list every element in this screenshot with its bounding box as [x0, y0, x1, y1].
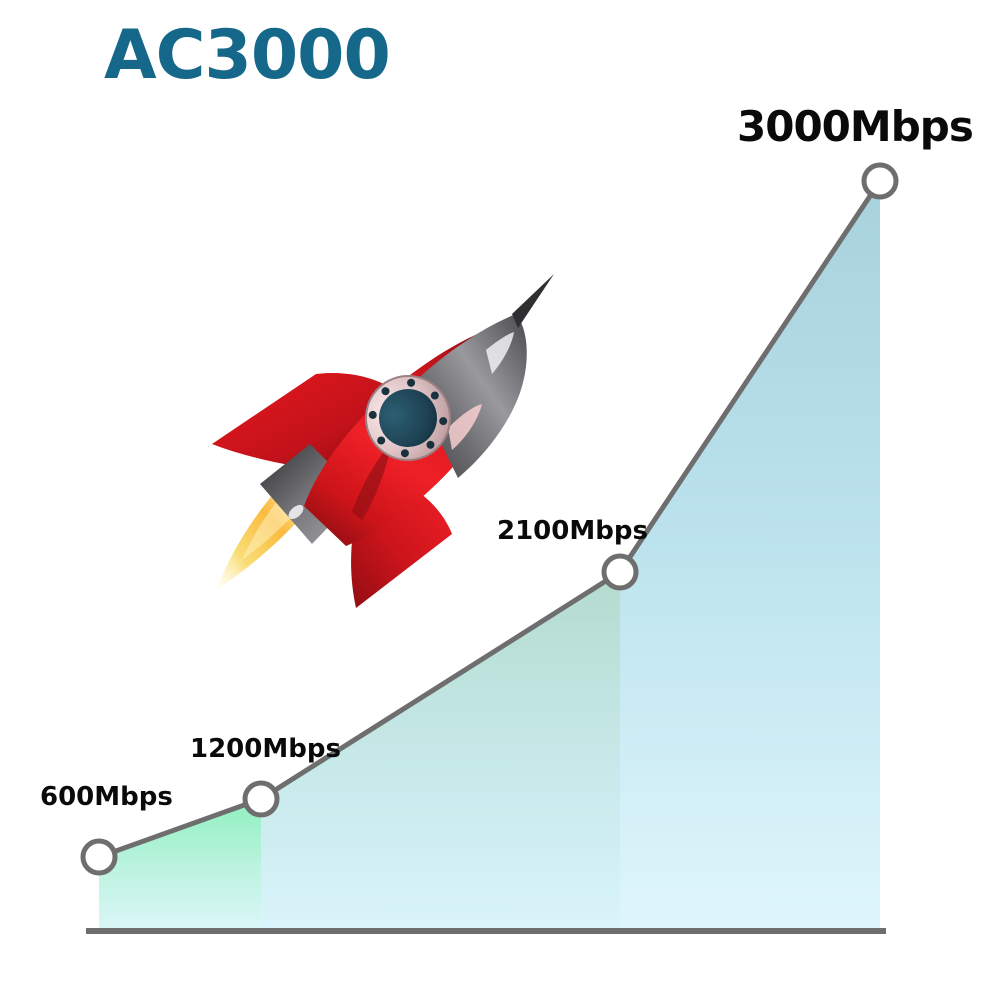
- rocket-antenna: [512, 274, 554, 328]
- data-point-marker[interactable]: [604, 556, 636, 588]
- data-label-3000: 3000Mbps: [737, 106, 973, 148]
- data-label-1200: 1200Mbps: [190, 736, 341, 762]
- rocket-icon: [200, 272, 560, 612]
- data-point-marker[interactable]: [864, 165, 896, 197]
- area-segment-1: [99, 799, 261, 928]
- data-point-marker[interactable]: [83, 841, 115, 873]
- area-segment-3: [620, 181, 880, 928]
- infographic-canvas: AC3000: [0, 0, 1000, 1000]
- data-point-marker[interactable]: [245, 783, 277, 815]
- data-label-600: 600Mbps: [40, 784, 173, 810]
